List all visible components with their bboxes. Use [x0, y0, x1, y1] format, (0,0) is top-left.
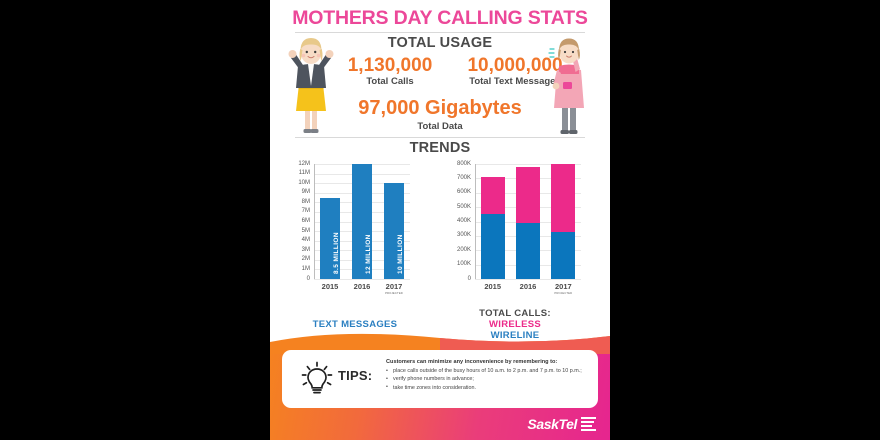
chart-caption-text-messages: TEXT MESSAGES: [280, 319, 430, 330]
logo-text: SaskTel: [527, 416, 577, 432]
y-axis-tick-label: 4M: [292, 237, 310, 244]
tip-item: place calls outside of the busy hours of…: [386, 368, 590, 375]
y-axis-tick-label: 0: [445, 276, 471, 283]
illustration-woman-waving: [286, 36, 336, 136]
y-axis-line: [475, 164, 476, 279]
y-axis-tick-label: 6M: [292, 218, 310, 225]
tips-label: TIPS:: [338, 368, 372, 383]
bar-segment-wireline: [551, 232, 575, 279]
tips-intro: Customers can minimize any inconvenience…: [386, 358, 590, 366]
legend-wireless: WIRELESS: [450, 319, 580, 330]
tip-item: take time zones into consideration.: [386, 385, 590, 392]
bar-value-label: 12 MILLION: [365, 234, 372, 274]
x-axis-tick-note: PROJECTED: [545, 291, 581, 295]
bar-value-label: 8.5 MILLION: [333, 232, 340, 274]
divider-top: [295, 32, 585, 33]
y-axis-tick-label: 7M: [292, 208, 310, 215]
bar-segment-wireless: [481, 177, 505, 214]
y-axis-tick-label: 1M: [292, 266, 310, 273]
x-axis-tick-label: 2015: [475, 282, 511, 291]
page-title: MOTHERS DAY CALLING STATS: [270, 7, 610, 30]
x-axis-tick-label: 2016: [510, 282, 546, 291]
x-axis-tick-label: 2017: [545, 282, 581, 291]
tips-card: TIPS: Customers can minimize any inconve…: [282, 350, 598, 408]
screenshot-canvas: MOTHERS DAY CALLING STATS TOTAL USAGE 1,…: [0, 0, 880, 440]
y-axis-tick-label: 9M: [292, 189, 310, 196]
sasktel-logo: SaskTel: [527, 416, 596, 432]
y-axis-tick-label: 0: [292, 276, 310, 283]
chart-total-calls: 0100K200K300K400K500K600K700K800K2015201…: [445, 160, 585, 295]
y-axis-tick-label: 800K: [445, 161, 471, 168]
infographic-poster: MOTHERS DAY CALLING STATS TOTAL USAGE 1,…: [270, 0, 610, 440]
divider-mid: [295, 137, 585, 138]
chart-text-messages: 01M2M3M4M5M6M7M8M9M10M11M12M8.5 MILLION2…: [292, 160, 412, 295]
gridline: [314, 279, 410, 280]
y-axis-tick-label: 3M: [292, 247, 310, 254]
y-axis-tick-label: 700K: [445, 175, 471, 182]
y-axis-tick-label: 5M: [292, 228, 310, 235]
bar-segment-wireline: [481, 214, 505, 279]
stat-total-data-label: Total Data: [330, 121, 550, 132]
y-axis-tick-label: 400K: [445, 218, 471, 225]
bar-segment-wireline: [516, 223, 540, 279]
y-axis-tick-label: 2M: [292, 256, 310, 263]
lightbulb-icon: [300, 360, 334, 398]
y-axis-tick-label: 100K: [445, 261, 471, 268]
illustration-woman-on-phone: [544, 36, 594, 136]
stat-total-calls-value: 1,130,000: [325, 55, 455, 77]
footer-band: TIPS: Customers can minimize any inconve…: [270, 346, 610, 440]
y-axis-tick-label: 11M: [292, 170, 310, 177]
x-axis-tick-note: PROJECTED: [376, 291, 412, 295]
y-axis-line: [314, 164, 315, 279]
bars-icon: [581, 417, 596, 431]
bar-value-label: 10 MILLION: [397, 234, 404, 274]
x-axis-tick-label: 2016: [344, 282, 380, 291]
y-axis-tick-label: 200K: [445, 247, 471, 254]
y-axis-tick-label: 500K: [445, 204, 471, 211]
section-heading-trends: TRENDS: [270, 140, 610, 156]
y-axis-tick-label: 10M: [292, 180, 310, 187]
chart-caption-total-calls: TOTAL CALLS:: [450, 308, 580, 319]
stat-total-calls-label: Total Calls: [325, 76, 455, 87]
tips-body: Customers can minimize any inconvenience…: [386, 358, 590, 393]
y-axis-tick-label: 300K: [445, 232, 471, 239]
stat-total-data-value: 97,000 Gigabytes: [330, 97, 550, 120]
y-axis-tick-label: 12M: [292, 161, 310, 168]
x-axis-tick-label: 2015: [312, 282, 348, 291]
bar-segment-wireless: [551, 164, 575, 232]
y-axis-tick-label: 8M: [292, 199, 310, 206]
y-axis-tick-label: 600K: [445, 189, 471, 196]
bar-segment-wireless: [516, 167, 540, 223]
tip-item: verify phone numbers in advance;: [386, 376, 590, 383]
gridline: [475, 279, 581, 280]
x-axis-tick-label: 2017: [376, 282, 412, 291]
